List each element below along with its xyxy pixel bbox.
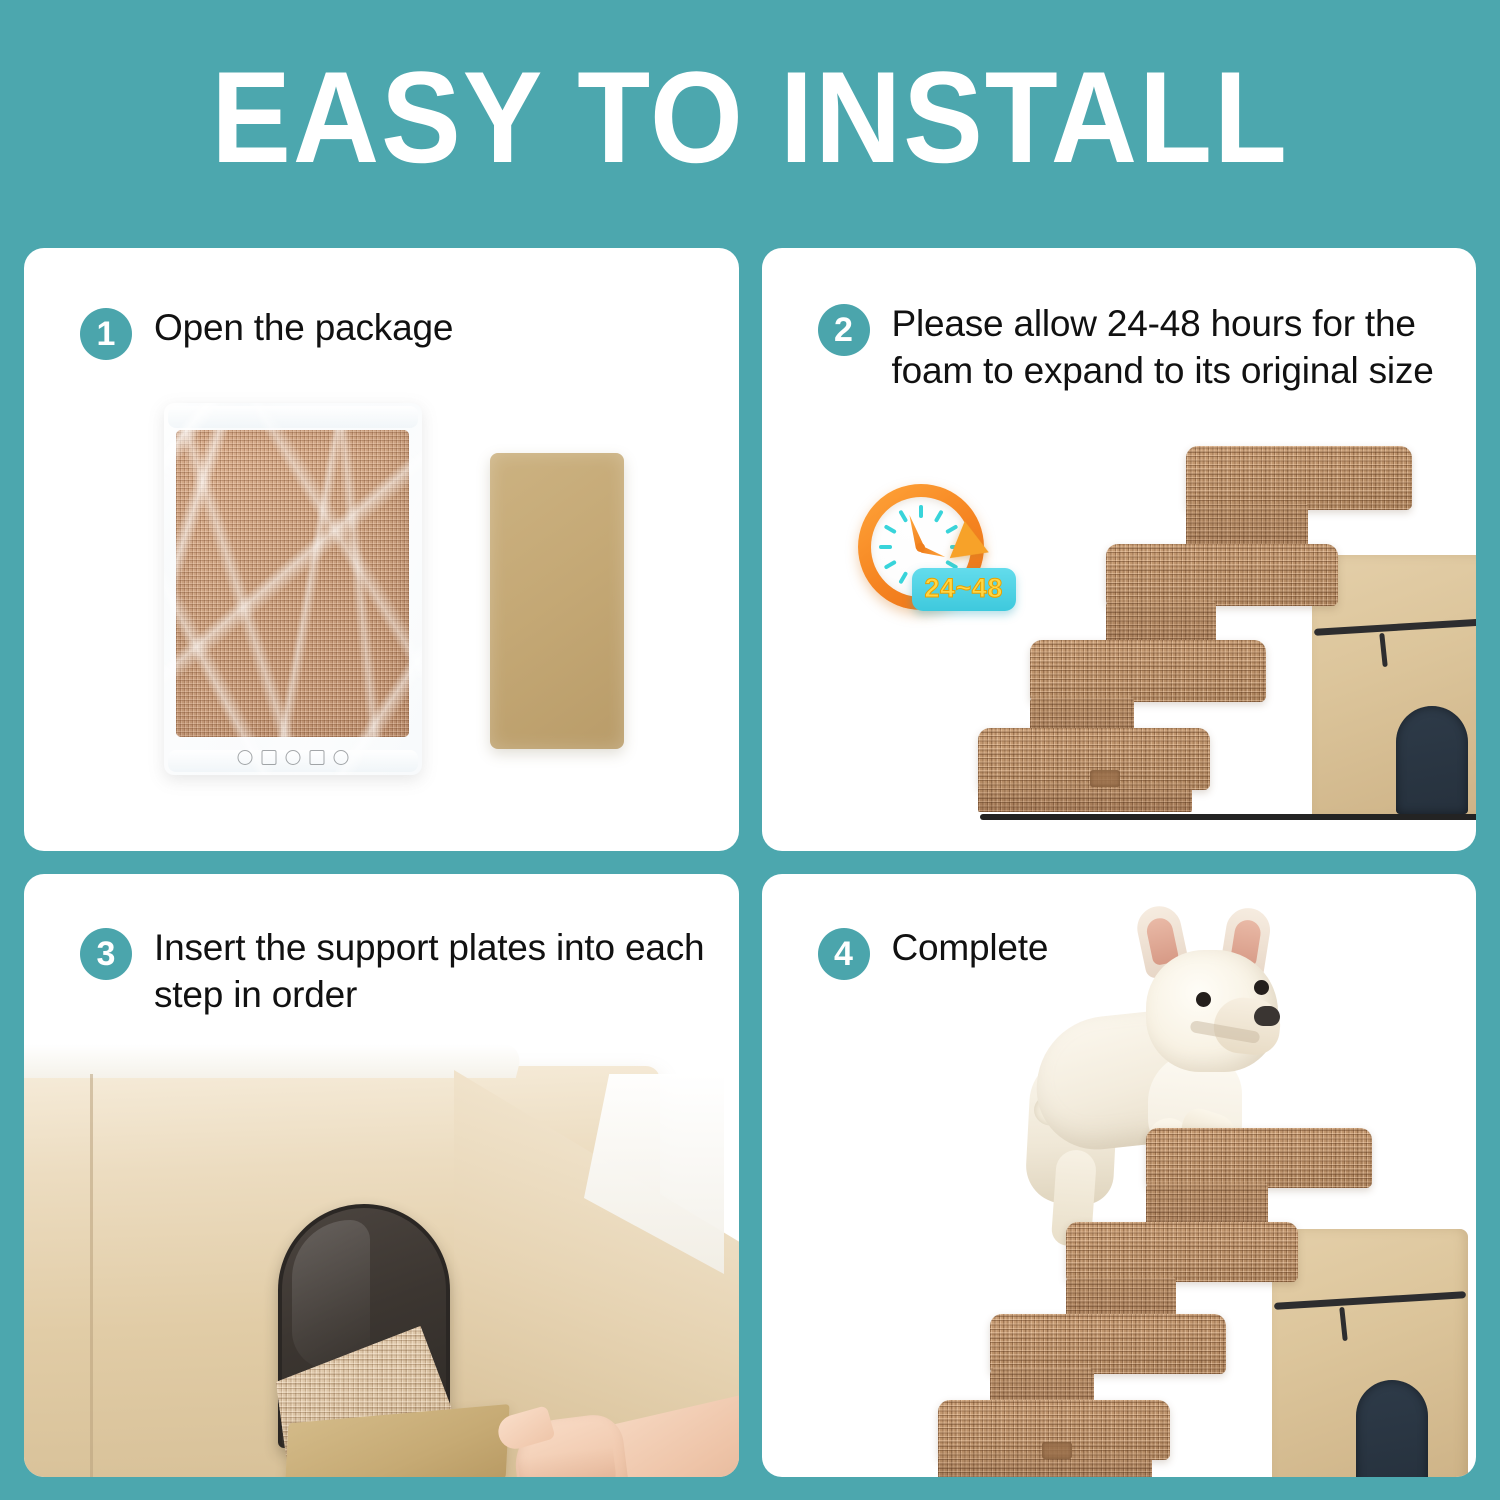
zipper xyxy=(1313,617,1476,636)
zipper-pull xyxy=(1339,1307,1348,1341)
step-2-header: 2 Please allow 24-48 hours for the foam … xyxy=(818,300,1452,394)
stair-tread-2 xyxy=(990,1314,1226,1374)
step-card-1: 1 Open the package xyxy=(24,248,739,851)
stairs-body xyxy=(938,1124,1468,1477)
stairs-top-edge xyxy=(24,1044,524,1078)
dog-eye-left xyxy=(1196,992,1211,1007)
vacuum-sealed-bag xyxy=(164,403,422,775)
flap-highlight xyxy=(292,1220,370,1370)
compressed-foam-stairs xyxy=(176,430,409,737)
step-card-4: 4 Complete xyxy=(762,874,1477,1477)
page-title: EASY TO INSTALL xyxy=(60,42,1440,192)
step-card-2: 2 Please allow 24-48 hours for the foam … xyxy=(762,248,1477,851)
arched-flap-opening xyxy=(1356,1380,1428,1477)
zipper-pull xyxy=(1379,633,1388,667)
instruction-infographic: EASY TO INSTALL 1 Open the package xyxy=(0,0,1500,1500)
dog-eye-right xyxy=(1254,980,1269,995)
clock-tick xyxy=(879,545,892,549)
step-2-number-badge: 2 xyxy=(818,304,870,356)
clock-tick xyxy=(898,571,908,584)
clock-tick xyxy=(883,560,896,570)
cardboard-support-plate xyxy=(490,453,624,749)
base-trim xyxy=(980,814,1477,820)
brand-tag xyxy=(1090,770,1120,787)
bag-seam-top xyxy=(168,406,418,428)
stair-tread-3 xyxy=(1066,1222,1298,1282)
stair-tread-2 xyxy=(1030,640,1266,702)
step-4-text: Complete xyxy=(892,924,1049,971)
stair-tread-4 xyxy=(1186,446,1412,510)
clock-tick xyxy=(919,505,923,518)
zipper xyxy=(1273,1291,1465,1310)
step-1-illustration xyxy=(24,248,739,851)
stair-tread-4 xyxy=(1146,1128,1372,1188)
dog-nose xyxy=(1254,1006,1280,1026)
no-fire-icon xyxy=(286,750,301,765)
step-2-text: Please allow 24-48 hours for the foam to… xyxy=(892,300,1452,394)
stair-tread-3 xyxy=(1106,544,1338,606)
arched-flap-opening xyxy=(1396,706,1468,814)
pet-stairs-product-assembled xyxy=(938,1124,1468,1477)
steps-grid: 1 Open the package xyxy=(24,248,1476,1477)
stairs-side-panel xyxy=(1272,1229,1468,1477)
clock-tick xyxy=(945,524,958,534)
stairs-corner-seam xyxy=(90,1074,93,1477)
step-4-number-badge: 4 xyxy=(818,928,870,980)
step-4-header: 4 Complete xyxy=(818,924,1049,980)
stairs-body xyxy=(978,440,1477,820)
clock-tick xyxy=(898,510,908,523)
clock-tick xyxy=(883,524,896,534)
keep-away-icon xyxy=(334,750,349,765)
recycle-icon xyxy=(238,750,253,765)
step-3-illustration xyxy=(24,874,739,1477)
warning-icon xyxy=(262,750,277,765)
pet-stairs-product xyxy=(978,440,1477,820)
clock-tick xyxy=(933,510,943,523)
packaging-symbols xyxy=(238,750,349,765)
hand xyxy=(492,1382,739,1477)
clock-center-pin xyxy=(916,543,925,552)
stair-riser-1 xyxy=(978,782,1192,812)
step-card-3: 3 Insert the support plates into each st… xyxy=(24,874,739,1477)
brand-tag xyxy=(1042,1442,1072,1459)
suffocation-warning-icon xyxy=(310,750,325,765)
